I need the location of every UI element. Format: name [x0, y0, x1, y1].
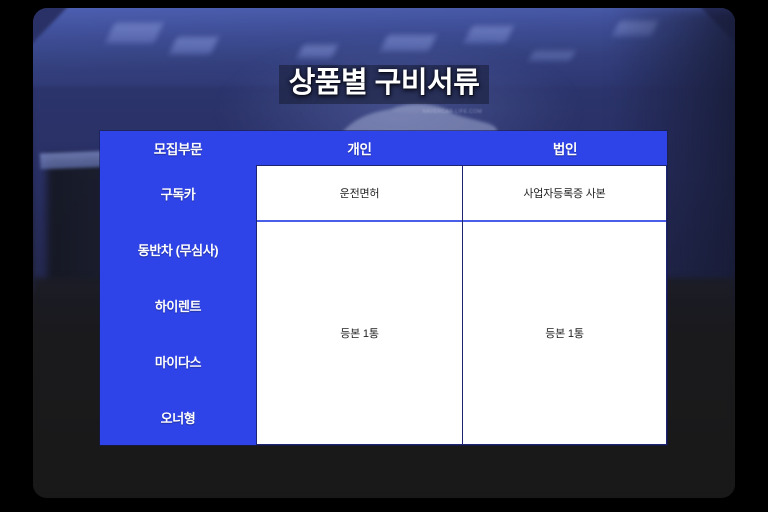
- slide-content: NAVERCAR-LIFE.COM 상품별 구비서류 모집부문 개인 법인 구독…: [33, 8, 735, 498]
- corporate-column: 사업자등록증 사본 등본 1통: [463, 166, 666, 444]
- column-header-category: 모집부문: [100, 131, 256, 165]
- cell-corporate-subscription: 사업자등록증 사본: [463, 166, 666, 222]
- table-row-category: 동반차 (무심사): [100, 221, 256, 277]
- table-row-category: 오너형: [100, 389, 256, 445]
- screenshot-canvas: NAVERCAR-LIFE.COM 상품별 구비서류 모집부문 개인 법인 구독…: [0, 0, 768, 512]
- column-header-individual: 개인: [256, 131, 463, 165]
- ceiling-light-panel: [106, 23, 164, 43]
- category-column: 구독카 동반차 (무심사) 하이렌트 마이다스 오너형: [100, 165, 256, 445]
- page-title-container: 상품별 구비서류: [33, 65, 735, 104]
- column-header-corporate: 법인: [463, 131, 667, 165]
- table-row-category: 마이다스: [100, 333, 256, 389]
- table-header-row: 모집부문 개인 법인: [100, 131, 667, 165]
- background-watermark-text: NAVERCAR-LIFE.COM: [423, 109, 483, 115]
- table-row-category: 하이렌트: [100, 277, 256, 333]
- cell-individual-merged: 등본 1통: [257, 222, 462, 444]
- requirements-table: 모집부문 개인 법인 구독카 동반차 (무심사) 하이렌트 마이다스 오너형 운…: [100, 131, 667, 445]
- ceiling-light-panel: [170, 37, 220, 54]
- cell-individual-subscription: 운전면허: [257, 166, 462, 222]
- individual-column: 운전면허 등본 1통: [257, 166, 463, 444]
- cell-corporate-merged: 등본 1통: [463, 222, 666, 444]
- page-title: 상품별 구비서류: [279, 65, 490, 104]
- table-row-category: 구독카: [100, 165, 256, 221]
- table-body: 구독카 동반차 (무심사) 하이렌트 마이다스 오너형 운전면허 등본 1통 사…: [100, 165, 667, 445]
- value-columns: 운전면허 등본 1통 사업자등록증 사본 등본 1통: [256, 165, 667, 445]
